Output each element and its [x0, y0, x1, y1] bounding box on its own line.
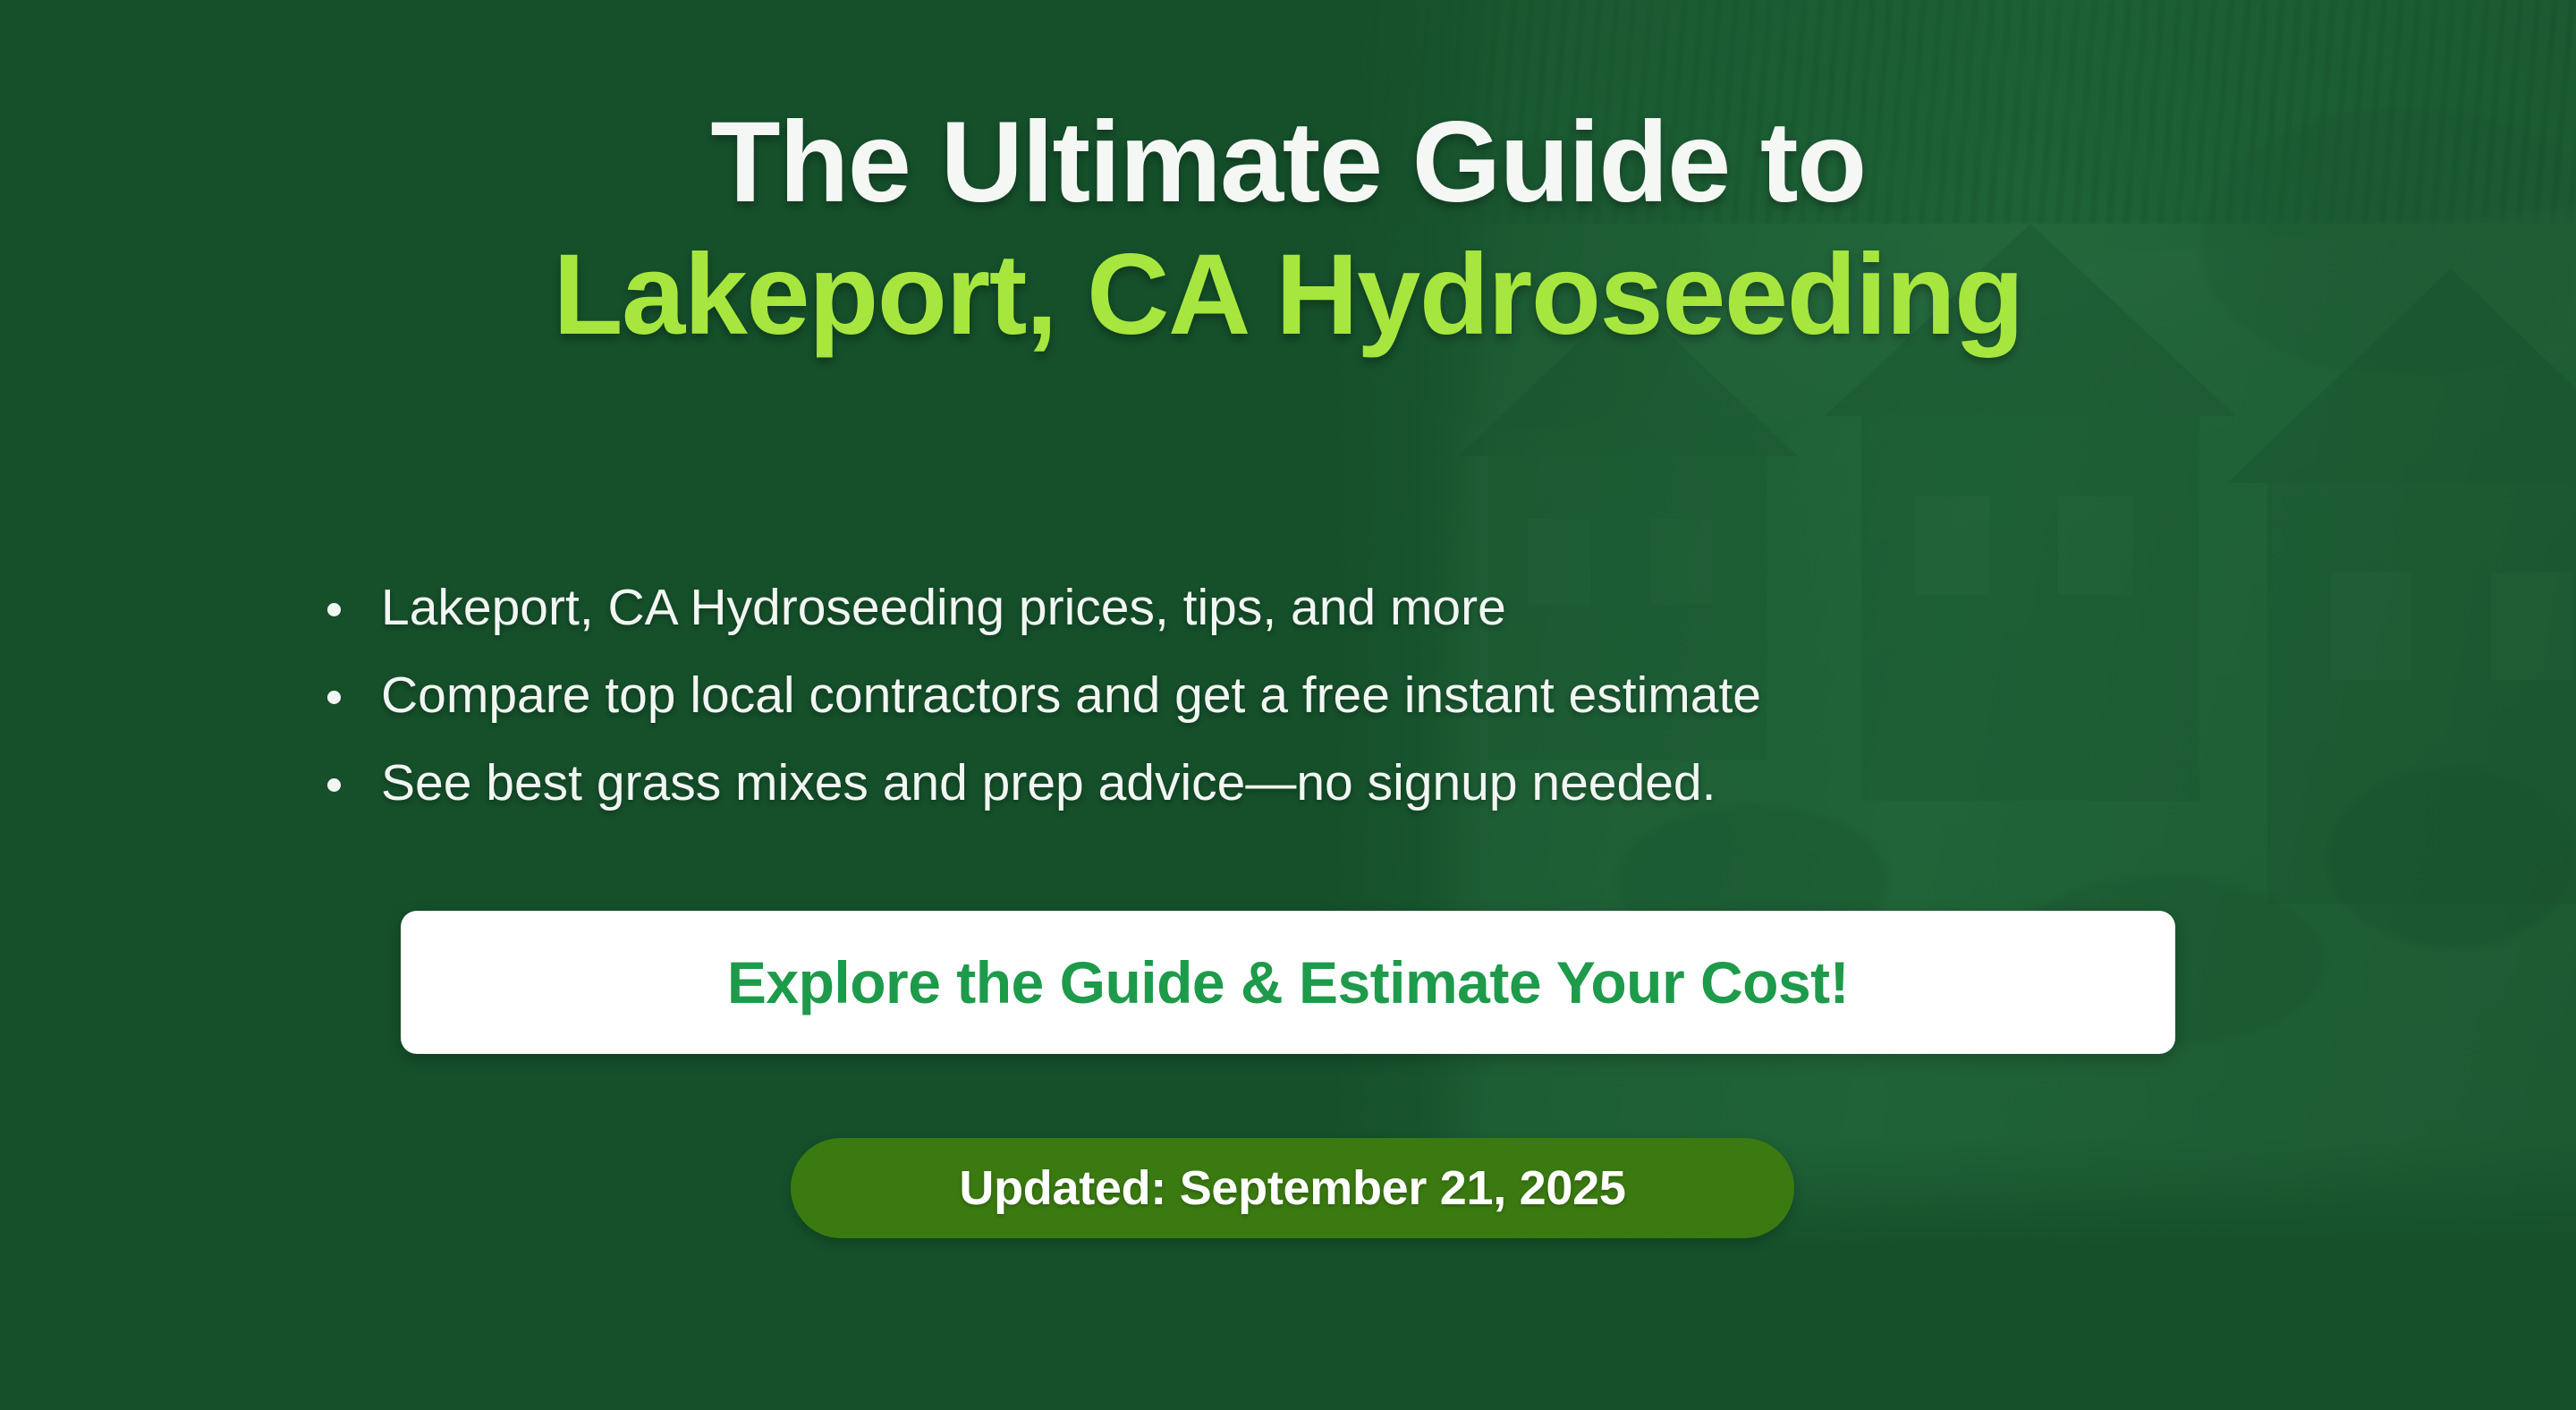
list-item: See best grass mixes and prep advice—no … — [322, 755, 2254, 812]
bullet-dot-icon — [327, 691, 341, 704]
benefit-list: Lakeport, CA Hydroseeding prices, tips, … — [322, 580, 2254, 811]
headline-line-2: Lakeport, CA Hydroseeding — [0, 238, 2576, 352]
updated-badge: Updated: September 21, 2025 — [791, 1138, 1794, 1238]
bullet-dot-icon — [327, 778, 341, 792]
banner-content: The Ultimate Guide to Lakeport, CA Hydro… — [0, 0, 2576, 1410]
list-item: Compare top local contractors and get a … — [322, 667, 2254, 725]
page-title: The Ultimate Guide to Lakeport, CA Hydro… — [0, 106, 2576, 352]
list-item: Lakeport, CA Hydroseeding prices, tips, … — [322, 580, 2254, 637]
list-item-label: Compare top local contractors and get a … — [381, 667, 1761, 724]
bullet-dot-icon — [327, 603, 341, 616]
hero-banner: The Ultimate Guide to Lakeport, CA Hydro… — [0, 0, 2576, 1410]
list-item-label: Lakeport, CA Hydroseeding prices, tips, … — [381, 579, 1506, 636]
list-item-label: See best grass mixes and prep advice—no … — [381, 754, 1716, 811]
explore-guide-button[interactable]: Explore the Guide & Estimate Your Cost! — [401, 911, 2175, 1054]
headline-line-1: The Ultimate Guide to — [0, 106, 2576, 238]
